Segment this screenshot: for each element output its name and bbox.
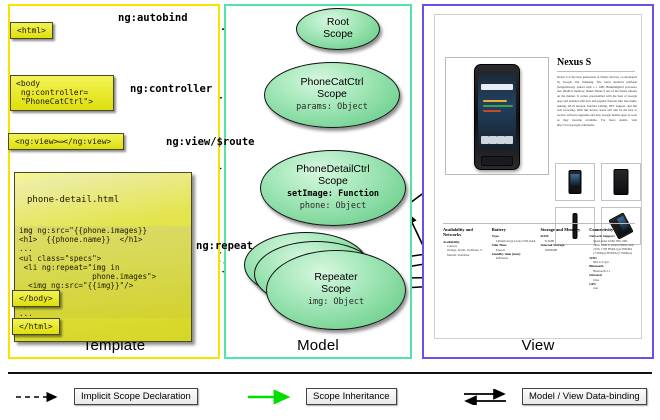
code-body-close: </body> [12,290,60,307]
scope-root-line1: Root [327,16,349,28]
label-ng-repeat: ng:repeat [196,240,253,252]
spec-column-availability: Availability and Networks Availability C… [443,227,489,291]
title-divider [557,71,635,72]
spec-value-standby: 428 hours [492,256,538,260]
spec-value-carriers: Orange, Sprint, Vodafone, T-Mobile, Voda… [443,248,489,256]
scope-cat-prop-params: params: Object [296,103,368,113]
scope-detail-prop-setimage: setImage: Function [287,190,379,200]
section-label-view: View [424,337,652,354]
phone-graphic-bar-3 [483,110,501,112]
scope-phonecatctrl: PhoneCatCtrlScope params: Object [264,62,400,128]
spec-heading-connectivity: Connectivity [589,227,635,232]
phone-graphic-bar-1 [483,100,507,102]
phone-screen [478,74,516,150]
scope-phonedetailctrl: PhoneDetailCtrlScope setImage: Function … [260,150,406,226]
spec-column-connectivity: Connectivity Network Support Quad-band G… [589,227,635,291]
scope-cat-line2: Scope [317,88,347,100]
green-arrow-icon [246,389,298,405]
detail-file-name: phone-detail.html [15,192,191,208]
legend-label-inheritance: Scope Inheritance [306,388,397,405]
code-ngview: <ng:view>▭</ng:view> [8,133,124,150]
label-ng-autobind: ng:autobind [118,12,188,24]
spec-value-internal: 16384MB [541,248,587,252]
phone-device-illustration [474,64,520,170]
legend-item-implicit: Implicit Scope Declaration [14,388,198,405]
spec-heading-availability: Availability and Networks [443,227,489,238]
double-arrow-icon [462,389,514,405]
thumbnail-1[interactable] [555,163,595,201]
spec-value-gps: true [589,286,635,290]
phone-description-text: Nexus S is the next generation of Nexus … [557,75,637,128]
scope-repeater-stack: RepeaterScope img: Object [244,232,404,336]
scope-repeater-line2: Scope [321,283,351,295]
code-body-open: <body ng:controller= "PhoneCatCtrl"> [10,75,114,111]
legend-label-implicit: Implicit Scope Declaration [74,388,198,405]
dashed-arrow-icon [14,389,66,405]
legend: Implicit Scope Declaration Scope Inherit… [0,372,660,420]
phone-app-icons [481,136,513,145]
legend-divider [8,372,652,374]
label-ng-controller: ng:controller [130,83,212,95]
spec-value-network: Quad-band GSM: 850, 900, 1800, 1900 Tri-… [589,239,635,256]
scope-detail-line1: PhoneDetailCtrl [296,163,370,175]
phone-hero-image [445,57,549,175]
phone-name-heading: Nexus S [557,57,591,68]
legend-item-databinding: Model / View Data-binding [462,388,647,405]
scope-detail-prop-phone: phone: Object [300,202,367,212]
thumbnail-2[interactable] [601,163,641,201]
scope-detail-line2: Scope [318,175,348,187]
phone-search-bar [481,84,513,90]
phone-home-bar [481,156,513,166]
scope-repeater-line1: Repeater [314,271,357,283]
phone-specs-table: Availability and Networks Availability C… [443,227,635,291]
phone-graphic-bar-2 [483,105,513,107]
diagram-canvas: Template <html> <body ng:controller= "Ph… [0,0,660,420]
code-phone-detail-template: phone-detail.html img ng:src="{{phone.im… [14,172,192,342]
code-html-close: </html> [12,318,60,335]
scope-root-line2: Scope [323,28,353,40]
legend-item-inheritance: Scope Inheritance [246,388,397,405]
spec-column-battery: Battery Type Lithium Ion (Li-Ion) 1500 m… [492,227,538,291]
spec-heading-storage: Storage and Memory [541,227,587,232]
spec-column-storage: Storage and Memory RAM 512MB Internal St… [541,227,587,291]
section-label-model: Model [226,337,410,354]
code-html-open: <html> [10,22,53,39]
scope-repeater-prop-img: img: Object [308,298,364,308]
label-ng-view-route: ng:view/$route [166,136,255,148]
scope-root: RootScope [296,8,380,50]
legend-label-databinding: Model / View Data-binding [522,388,647,405]
rendered-view-page: Nexus S Nexus S is the next generation o… [434,14,642,339]
scope-cat-line1: PhoneCatCtrl [300,76,363,88]
specs-divider [443,223,635,224]
spec-heading-battery: Battery [492,227,538,232]
scope-repeater-front: RepeaterScope img: Object [266,250,406,330]
